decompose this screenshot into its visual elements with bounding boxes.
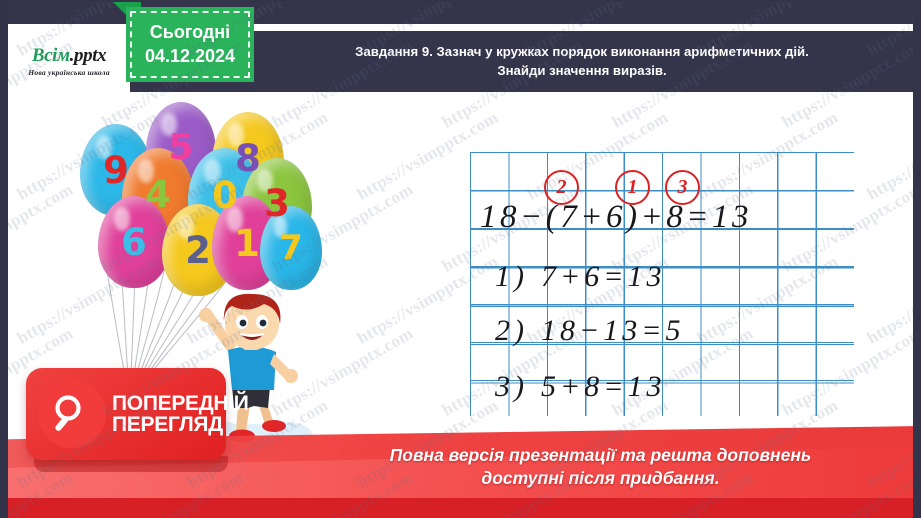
banner-bottom-strip bbox=[0, 498, 921, 518]
preview-badge-line1: ПОПЕРЕДНІЙ bbox=[112, 393, 249, 414]
balloon-digit: 4 bbox=[145, 173, 171, 216]
brand-prefix: Всім bbox=[32, 45, 70, 66]
banner-message: Повна версія презентації та решта доповн… bbox=[308, 436, 893, 498]
order-marker-2: 2 bbox=[544, 170, 579, 205]
order-marker-value: 1 bbox=[628, 176, 638, 199]
watermark-text: https://vsimpptx.com bbox=[864, 107, 913, 204]
watermark-text: https://vsimpptx.com bbox=[864, 251, 913, 348]
balloon-digit: 5 bbox=[168, 127, 193, 168]
balloon-digit: 9 bbox=[103, 149, 129, 192]
brand-tagline: Нова українська школа bbox=[28, 68, 109, 77]
step-number: 3) bbox=[495, 370, 528, 403]
preview-badge-label: ПОПЕРЕДНІЙ ПЕРЕГЛЯД bbox=[112, 393, 249, 436]
step-number: 2) bbox=[495, 314, 528, 347]
page-title: Завдання 9. Зазнач у кружках порядок вик… bbox=[263, 32, 901, 90]
banner-message-line2: доступні після придбання. bbox=[481, 467, 719, 490]
order-marker-value: 2 bbox=[557, 176, 567, 199]
solution-step-1: 1)7+6=13 bbox=[495, 260, 666, 294]
balloon-digit: 8 bbox=[235, 137, 261, 180]
step-expression: 18−13=5 bbox=[541, 314, 685, 347]
solution-step-2: 2)18−13=5 bbox=[495, 314, 685, 348]
date-tag-value: 04.12.2024 bbox=[145, 46, 235, 67]
date-tag-label: Сьогодні bbox=[150, 22, 230, 43]
balloon-digit: 3 bbox=[264, 182, 290, 225]
magnifier-icon bbox=[38, 380, 106, 448]
preview-badge[interactable]: ПОПЕРЕДНІЙ ПЕРЕГЛЯД bbox=[26, 368, 226, 460]
brand-logo: Всім.pptx Нова українська школа bbox=[8, 30, 130, 92]
step-number: 1) bbox=[495, 260, 528, 293]
balloon-digit: 2 bbox=[185, 229, 211, 272]
balloon-digit: 1 bbox=[234, 222, 260, 265]
order-marker-value: 3 bbox=[678, 176, 688, 199]
balloons-illustration: 9 5 8 4 0 3 6 2 1 7 bbox=[70, 100, 320, 295]
order-marker-3: 3 bbox=[665, 170, 700, 205]
preview-badge-line2: ПЕРЕГЛЯД bbox=[112, 414, 249, 435]
solution-step-3: 3)5+8=13 bbox=[495, 370, 666, 404]
step-expression: 7+6=13 bbox=[541, 260, 666, 293]
page-title-line1: Завдання 9. Зазнач у кружках порядок вик… bbox=[355, 42, 809, 61]
balloon-digit: 7 bbox=[279, 228, 303, 268]
brand-logo-text: Всім.pptx bbox=[32, 45, 106, 67]
presentation-slide: Завдання 9. Зазнач у кружках порядок вик… bbox=[0, 0, 921, 518]
order-marker-1: 1 bbox=[615, 170, 650, 205]
step-expression: 5+8=13 bbox=[541, 370, 666, 403]
watermark-text: https://vsimpptx.com bbox=[8, 179, 77, 276]
balloon-digit: 0 bbox=[212, 174, 238, 217]
main-expression: 18−(7+6)+8=13 bbox=[480, 199, 752, 236]
date-tag: Сьогодні 04.12.2024 bbox=[126, 7, 254, 82]
banner-message-line1: Повна версія презентації та решта доповн… bbox=[390, 444, 812, 467]
page-title-line2: Знайди значення виразів. bbox=[497, 61, 666, 80]
brand-suffix: .pptx bbox=[70, 45, 107, 66]
balloon-digit: 6 bbox=[121, 221, 147, 264]
